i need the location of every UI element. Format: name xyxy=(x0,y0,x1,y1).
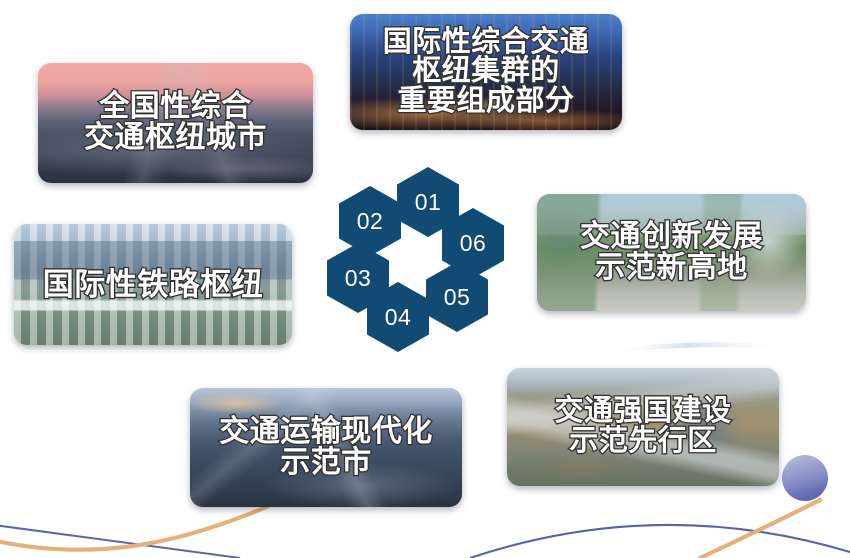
hexagon-label: 04 xyxy=(385,306,412,329)
gradient-circle xyxy=(782,455,828,501)
card-international-rail-hub[interactable]: 国际性铁路枢纽 xyxy=(14,224,292,345)
hexagon-label: 01 xyxy=(415,191,442,214)
card-innovation-highland[interactable]: 交通创新发展 示范新高地 xyxy=(537,194,806,311)
card-national-hub[interactable]: 全国性综合 交通枢纽城市 xyxy=(38,63,313,183)
hexagon-label: 05 xyxy=(444,286,471,309)
hexagon-label: 06 xyxy=(460,232,487,255)
card-modernization-demo-city[interactable]: 交通运输现代化 示范市 xyxy=(190,388,462,507)
card-caption: 国际性铁路枢纽 xyxy=(39,269,268,301)
slide-canvas: 全国性综合 交通枢纽城市 国际性综合交通 枢纽集群的 重要组成部分 国际性铁路枢… xyxy=(0,0,850,558)
card-caption: 国际性综合交通 枢纽集群的 重要组成部分 xyxy=(379,28,594,117)
wisp-decoration xyxy=(606,345,790,352)
tan-curve-right xyxy=(700,500,820,558)
card-caption: 交通运输现代化 示范市 xyxy=(215,417,437,478)
hexagon-label: 02 xyxy=(357,210,384,233)
card-caption: 交通强国建设 示范先行区 xyxy=(550,397,735,456)
blue-arc-bottom xyxy=(470,525,850,558)
card-international-cluster[interactable]: 国际性综合交通 枢纽集群的 重要组成部分 xyxy=(350,14,622,130)
hexagon-02[interactable]: 02 xyxy=(339,186,401,256)
card-pilot-zone[interactable]: 交通强国建设 示范先行区 xyxy=(507,368,779,486)
hexagon-label: 03 xyxy=(345,267,372,290)
card-caption: 全国性综合 交通枢纽城市 xyxy=(80,92,271,153)
card-caption: 交通创新发展 示范新高地 xyxy=(576,222,767,283)
blue-line-left xyxy=(0,525,240,558)
